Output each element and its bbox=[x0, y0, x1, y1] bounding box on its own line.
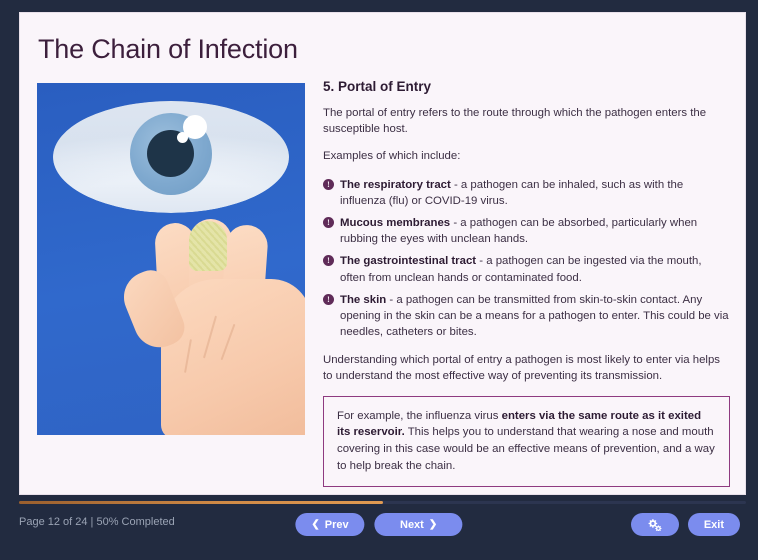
list-item: ! Mucous membranes - a pathogen can be a… bbox=[323, 215, 730, 247]
page-title: The Chain of Infection bbox=[38, 34, 298, 65]
list-item-term: The gastrointestinal tract bbox=[340, 255, 476, 267]
prev-button[interactable]: ❮ Prev bbox=[295, 513, 364, 536]
section-heading: 5. Portal of Entry bbox=[323, 79, 730, 94]
list-item: ! The respiratory tract - a pathogen can… bbox=[323, 177, 730, 209]
section-intro-paragraph: The portal of entry refers to the route … bbox=[323, 105, 730, 137]
course-progress-bar bbox=[19, 501, 746, 504]
page-status-text: Page 12 of 24 | 50% Completed bbox=[19, 516, 175, 528]
bottom-navigation-bar: Page 12 of 24 | 50% Completed ❮ Prev Nex… bbox=[0, 508, 758, 560]
utility-buttons: Exit bbox=[631, 513, 740, 536]
navigation-buttons: ❮ Prev Next ❯ bbox=[295, 513, 462, 536]
list-item-term: The skin bbox=[340, 294, 386, 306]
slide-card: The Chain of Infection 5. Portal of Entr… bbox=[19, 12, 746, 495]
course-progress-fill bbox=[19, 501, 383, 504]
list-item-term: Mucous membranes bbox=[340, 217, 450, 229]
germ-contamination-patch bbox=[189, 221, 227, 271]
slide-content: 5. Portal of Entry The portal of entry r… bbox=[323, 79, 730, 487]
exclamation-circle-icon: ! bbox=[323, 294, 334, 305]
chevron-left-icon: ❮ bbox=[311, 519, 319, 530]
portal-of-entry-list: ! The respiratory tract - a pathogen can… bbox=[323, 177, 730, 341]
callout-text: For example, the influenza virus enters … bbox=[337, 408, 717, 475]
palm-shape bbox=[161, 279, 305, 435]
list-item-text: - a pathogen can be transmitted from ski… bbox=[340, 294, 729, 338]
example-callout-box: For example, the influenza virus enters … bbox=[323, 396, 730, 488]
examples-label: Examples of which include: bbox=[323, 148, 730, 164]
closing-paragraph: Understanding which portal of entry a pa… bbox=[323, 352, 730, 384]
settings-button[interactable] bbox=[631, 513, 679, 536]
next-button[interactable]: Next ❯ bbox=[375, 513, 463, 536]
exit-button-label: Exit bbox=[704, 519, 724, 531]
eye-and-contaminated-hand-illustration bbox=[37, 83, 305, 435]
list-item: ! The skin - a pathogen can be transmitt… bbox=[323, 292, 730, 341]
eye-highlight-small bbox=[177, 132, 188, 143]
hand-shape bbox=[123, 219, 305, 435]
exit-button[interactable]: Exit bbox=[688, 513, 740, 536]
callout-lead: For example, the influenza virus bbox=[337, 410, 502, 422]
next-button-label: Next bbox=[400, 519, 424, 531]
prev-button-label: Prev bbox=[325, 519, 349, 531]
list-item-term: The respiratory tract bbox=[340, 179, 451, 191]
cogs-icon bbox=[647, 518, 662, 531]
chevron-right-icon: ❯ bbox=[429, 519, 437, 530]
exclamation-circle-icon: ! bbox=[323, 255, 334, 266]
list-item: ! The gastrointestinal tract - a pathoge… bbox=[323, 253, 730, 285]
exclamation-circle-icon: ! bbox=[323, 179, 334, 190]
exclamation-circle-icon: ! bbox=[323, 217, 334, 228]
